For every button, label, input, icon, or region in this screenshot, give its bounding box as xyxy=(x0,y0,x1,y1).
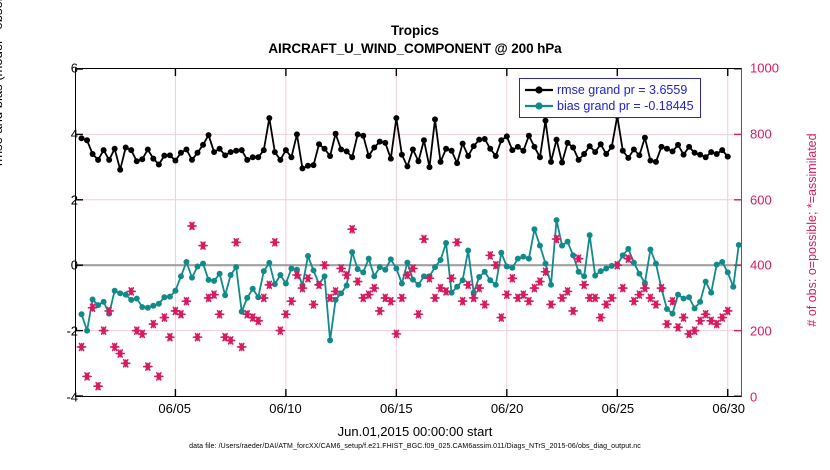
y-tick-left: -4 xyxy=(38,390,78,405)
y-tick-right: 200 xyxy=(750,324,798,339)
data-series-layer xyxy=(76,69,741,396)
legend-item-bias: bias grand pr = -0.18445 xyxy=(524,98,694,114)
legend-label-rmse: rmse grand pr = 3.6559 xyxy=(557,83,687,97)
y-tick-left: -2 xyxy=(38,324,78,339)
y-tick-left: 4 xyxy=(38,126,78,141)
legend-marker-rmse-icon xyxy=(524,83,554,97)
legend: rmse grand pr = 3.6559 bias grand pr = -… xyxy=(519,78,701,118)
chart-title-block: Tropics AIRCRAFT_U_WIND_COMPONENT @ 200 … xyxy=(0,22,830,58)
x-tick: 06/30 xyxy=(694,401,764,416)
x-tick: 06/20 xyxy=(472,401,542,416)
y-tick-left: 0 xyxy=(38,258,78,273)
y-tick-right: 800 xyxy=(750,126,798,141)
y-tick-left: 2 xyxy=(38,192,78,207)
y-tick-left: 6 xyxy=(38,61,78,76)
page-title: Tropics xyxy=(0,22,830,39)
x-tick: 06/15 xyxy=(361,401,431,416)
legend-label-bias: bias grand pr = -0.18445 xyxy=(557,99,694,113)
chart-page: Tropics AIRCRAFT_U_WIND_COMPONENT @ 200 … xyxy=(0,0,830,470)
x-tick: 06/25 xyxy=(583,401,653,416)
chart-subtitle: AIRCRAFT_U_WIND_COMPONENT @ 200 hPa xyxy=(0,39,830,58)
legend-item-rmse: rmse grand pr = 3.6559 xyxy=(524,82,694,98)
x-tick: 06/05 xyxy=(140,401,210,416)
legend-marker-bias-icon xyxy=(524,99,554,113)
y-tick-right: 400 xyxy=(750,258,798,273)
x-axis-label: Jun.01,2015 00:00:00 start xyxy=(0,424,830,439)
x-tick: 06/10 xyxy=(251,401,321,416)
y-tick-right: 600 xyxy=(750,192,798,207)
data-file-caption: data file: /Users/raeder/DAI/ATM_forcXX/… xyxy=(0,443,830,450)
y-axis-left-label: rmse and bias (model - observation) xyxy=(0,0,5,232)
y-axis-right-label: # of obs: o=possible; *=assimilated xyxy=(805,60,819,400)
y-tick-right: 1000 xyxy=(750,61,798,76)
